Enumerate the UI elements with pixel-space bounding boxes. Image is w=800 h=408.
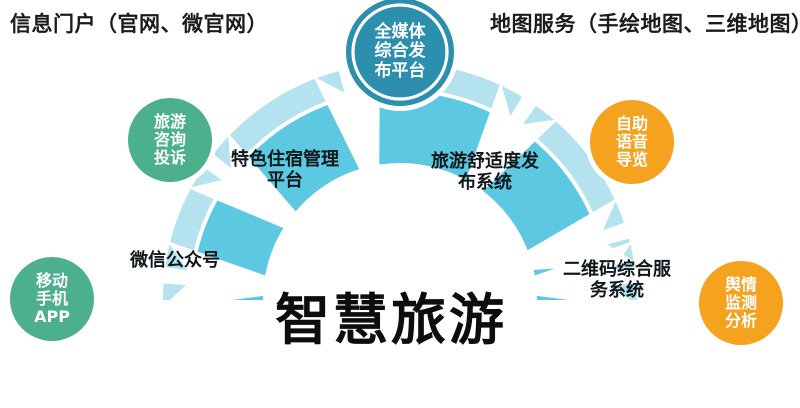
diagram-canvas: 信息门户（官网、微官网） 地图服务（手绘地图、三维地图） 智慧旅游 全媒体 综合…: [0, 0, 800, 408]
node-circle-top-center[interactable]: [346, 0, 454, 106]
node-circle-upper-left[interactable]: [128, 98, 212, 182]
node-circle-lower-left[interactable]: [10, 257, 94, 341]
page-title: 智慧旅游: [275, 293, 507, 348]
header-label-map-service: 地图服务（手绘地图、三维地图）: [490, 14, 800, 35]
node-circle-upper-right[interactable]: [590, 100, 674, 184]
node-circle-lower-right[interactable]: [699, 261, 783, 345]
header-label-information-portal: 信息门户（官网、微官网）: [10, 14, 268, 35]
